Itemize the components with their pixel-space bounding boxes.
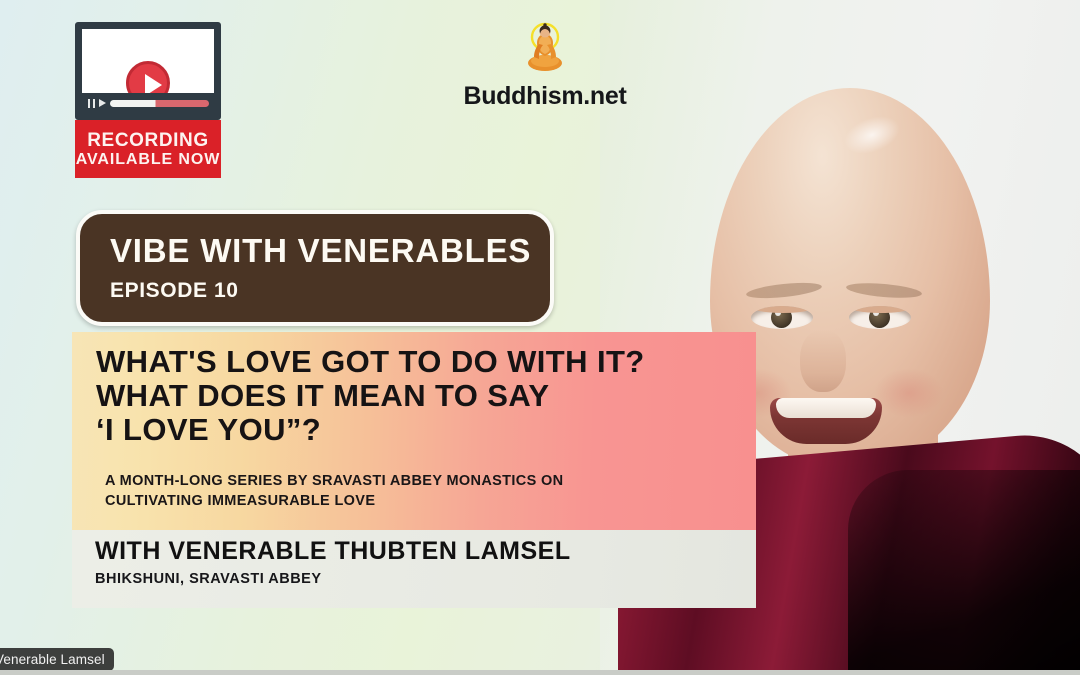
recording-label-line2: AVAILABLE NOW [76, 152, 220, 168]
brand-logo: Buddhism.net [455, 20, 635, 111]
recording-label-block: RECORDING AVAILABLE NOW [75, 120, 221, 178]
subtitle-line-2: CULTIVATING IMMEASURABLE LOVE [105, 492, 715, 512]
next-track-icon [99, 99, 106, 107]
video-player-icon [75, 22, 221, 120]
subtitle: A MONTH-LONG SERIES BY SRAVASTI ABBEY MO… [105, 472, 715, 511]
headline: WHAT'S LOVE GOT TO DO WITH IT? WHAT DOES… [96, 345, 716, 446]
teeth [776, 398, 876, 418]
player-control-bar [82, 93, 214, 113]
robe-shadow [848, 470, 1080, 675]
eyelid-right [849, 306, 911, 313]
smiling-mouth [770, 398, 882, 444]
recording-available-badge: RECORDING AVAILABLE NOW [75, 22, 221, 178]
seated-buddha-icon [515, 20, 575, 80]
episode-number: EPISODE 10 [110, 280, 239, 301]
series-plaque: VIBE WITH VENERABLES EPISODE 10 [76, 210, 554, 326]
eye-left [751, 306, 813, 329]
brand-name: Buddhism.net [455, 82, 635, 111]
progress-bar-icon [110, 100, 209, 107]
bottom-letterbox-bar [0, 670, 1080, 675]
headline-line-1: WHAT'S LOVE GOT TO DO WITH IT? [96, 345, 716, 379]
subtitle-line-1: A MONTH-LONG SERIES BY SRAVASTI ABBEY MO… [105, 472, 715, 492]
headline-line-2: WHAT DOES IT MEAN TO SAY [96, 379, 716, 413]
headline-line-3: ‘I LOVE YOU”? [96, 413, 716, 447]
presenter-name: WITH VENERABLE THUBTEN LAMSEL [95, 538, 571, 564]
presenter-role: BHIKSHUNI, SRAVASTI ABBEY [95, 571, 322, 587]
pause-icon [88, 99, 95, 108]
eyelid-left [751, 306, 813, 313]
nose [800, 330, 846, 392]
eye-right [849, 306, 911, 329]
video-call-nametag[interactable]: Venerable Lamsel [0, 648, 114, 671]
series-title: VIBE WITH VENERABLES [110, 234, 531, 267]
recording-label-line1: RECORDING [87, 131, 209, 150]
cheek-right [874, 368, 944, 418]
presentation-slide: RECORDING AVAILABLE NOW Buddhism.net [0, 0, 1080, 675]
player-screen [82, 29, 214, 93]
